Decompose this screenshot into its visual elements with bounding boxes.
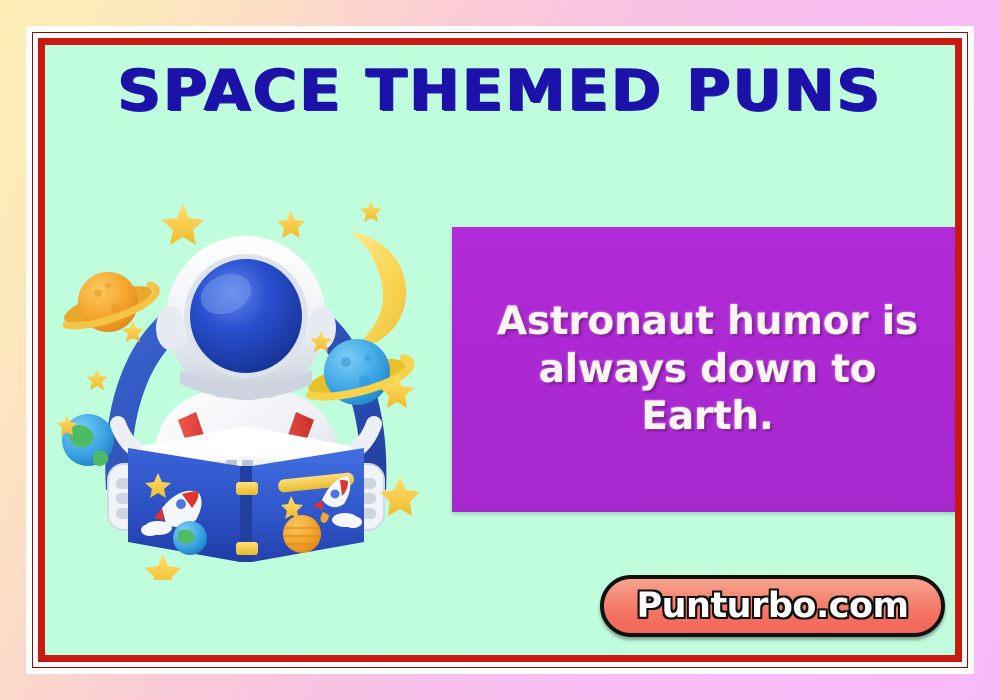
crescent-moon-icon [350, 232, 406, 348]
poster-canvas: SPACE THEMED PUNS [0, 0, 1000, 700]
quote-panel: Astronaut humor is always down to Earth. [452, 227, 955, 512]
page-title: SPACE THEMED PUNS [45, 63, 955, 120]
orange-ringed-planet-icon [60, 272, 160, 333]
poster-inner-canvas: SPACE THEMED PUNS [45, 45, 955, 655]
orange-planet-sticker [283, 515, 321, 553]
astronaut-illustration [50, 190, 440, 580]
website-badge[interactable]: Punturbo.com [600, 575, 945, 637]
quote-text: Astronaut humor is always down to Earth. [452, 298, 955, 442]
open-book [128, 426, 364, 562]
website-badge-label: Punturbo.com [636, 586, 908, 626]
